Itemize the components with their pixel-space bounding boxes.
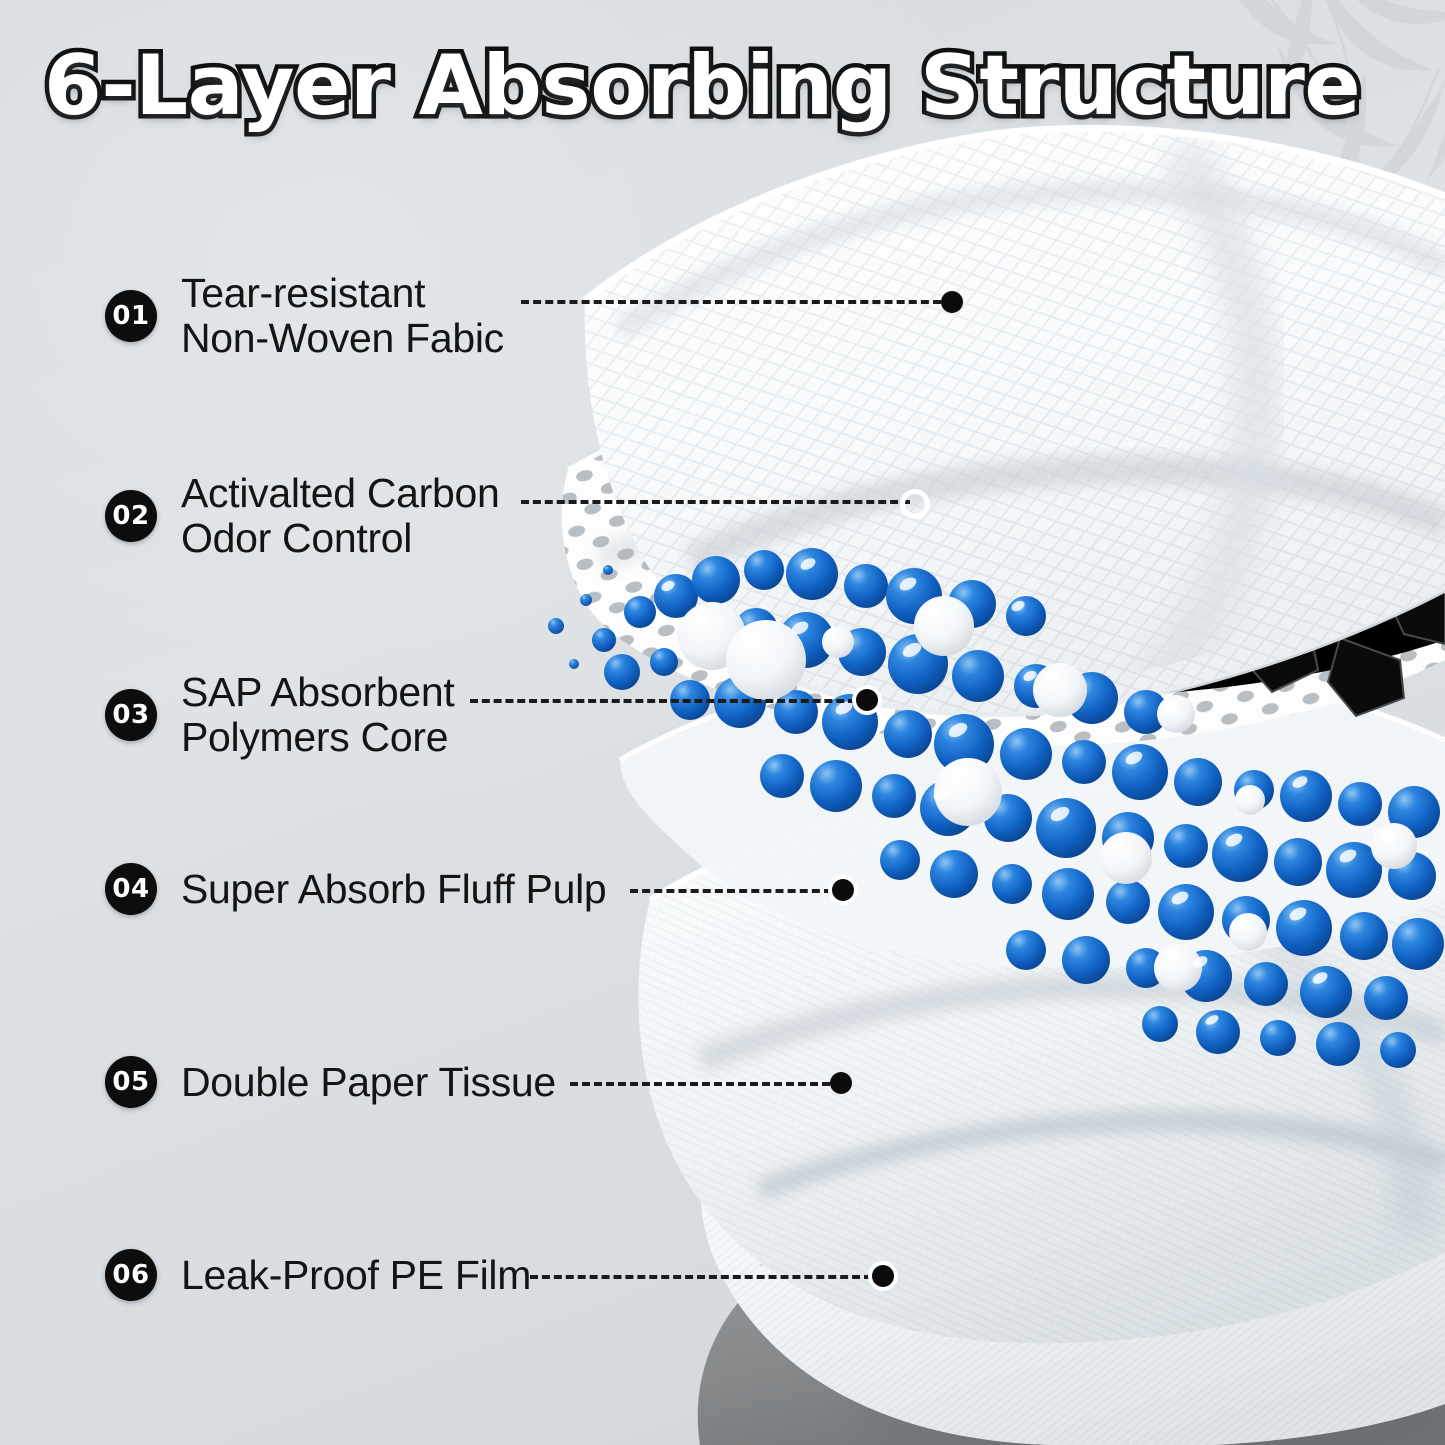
leader-line-01: [521, 300, 941, 304]
callout-label-05: Double Paper Tissue: [181, 1056, 556, 1108]
leader-endpoint-02: [900, 489, 930, 519]
callout-layer-06[interactable]: 06 Leak-Proof PE Film: [105, 1249, 531, 1301]
callout-layer-04[interactable]: 04 Super Absorb Fluff Pulp: [105, 863, 606, 915]
callout-layer-05[interactable]: 05 Double Paper Tissue: [105, 1056, 556, 1108]
callout-label-03: SAP Absorbent Polymers Core: [181, 670, 454, 760]
infographic-canvas: 6-Layer Absorbing Structure 01 Tear-resi…: [0, 0, 1445, 1445]
leader-endpoint-04: [832, 879, 854, 901]
badge-number-01: 01: [105, 290, 157, 342]
leader-endpoint-01: [941, 291, 963, 313]
leader-line-04: [630, 889, 832, 893]
callout-layer-03[interactable]: 03 SAP Absorbent Polymers Core: [105, 670, 454, 760]
callout-layer-02[interactable]: 02 Activalted Carbon Odor Control: [105, 471, 500, 561]
badge-number-05: 05: [105, 1056, 157, 1108]
leader-endpoint-03: [856, 689, 878, 711]
leader-endpoint-06: [872, 1265, 894, 1287]
badge-number-06: 06: [105, 1249, 157, 1301]
badge-number-03: 03: [105, 689, 157, 741]
leader-line-05: [570, 1082, 830, 1086]
leader-line-03: [470, 699, 856, 703]
leader-endpoint-05: [830, 1072, 852, 1094]
callout-layer-01[interactable]: 01 Tear-resistant Non-Woven Fabic: [105, 271, 504, 361]
badge-number-02: 02: [105, 490, 157, 542]
callout-label-02: Activalted Carbon Odor Control: [181, 471, 500, 561]
badge-number-04: 04: [105, 863, 157, 915]
leader-line-06: [530, 1275, 872, 1279]
callout-label-04: Super Absorb Fluff Pulp: [181, 863, 606, 915]
callout-label-01: Tear-resistant Non-Woven Fabic: [181, 271, 504, 361]
callout-label-06: Leak-Proof PE Film: [181, 1249, 531, 1301]
leader-line-02: [521, 500, 910, 504]
page-title: 6-Layer Absorbing Structure: [44, 38, 1334, 134]
